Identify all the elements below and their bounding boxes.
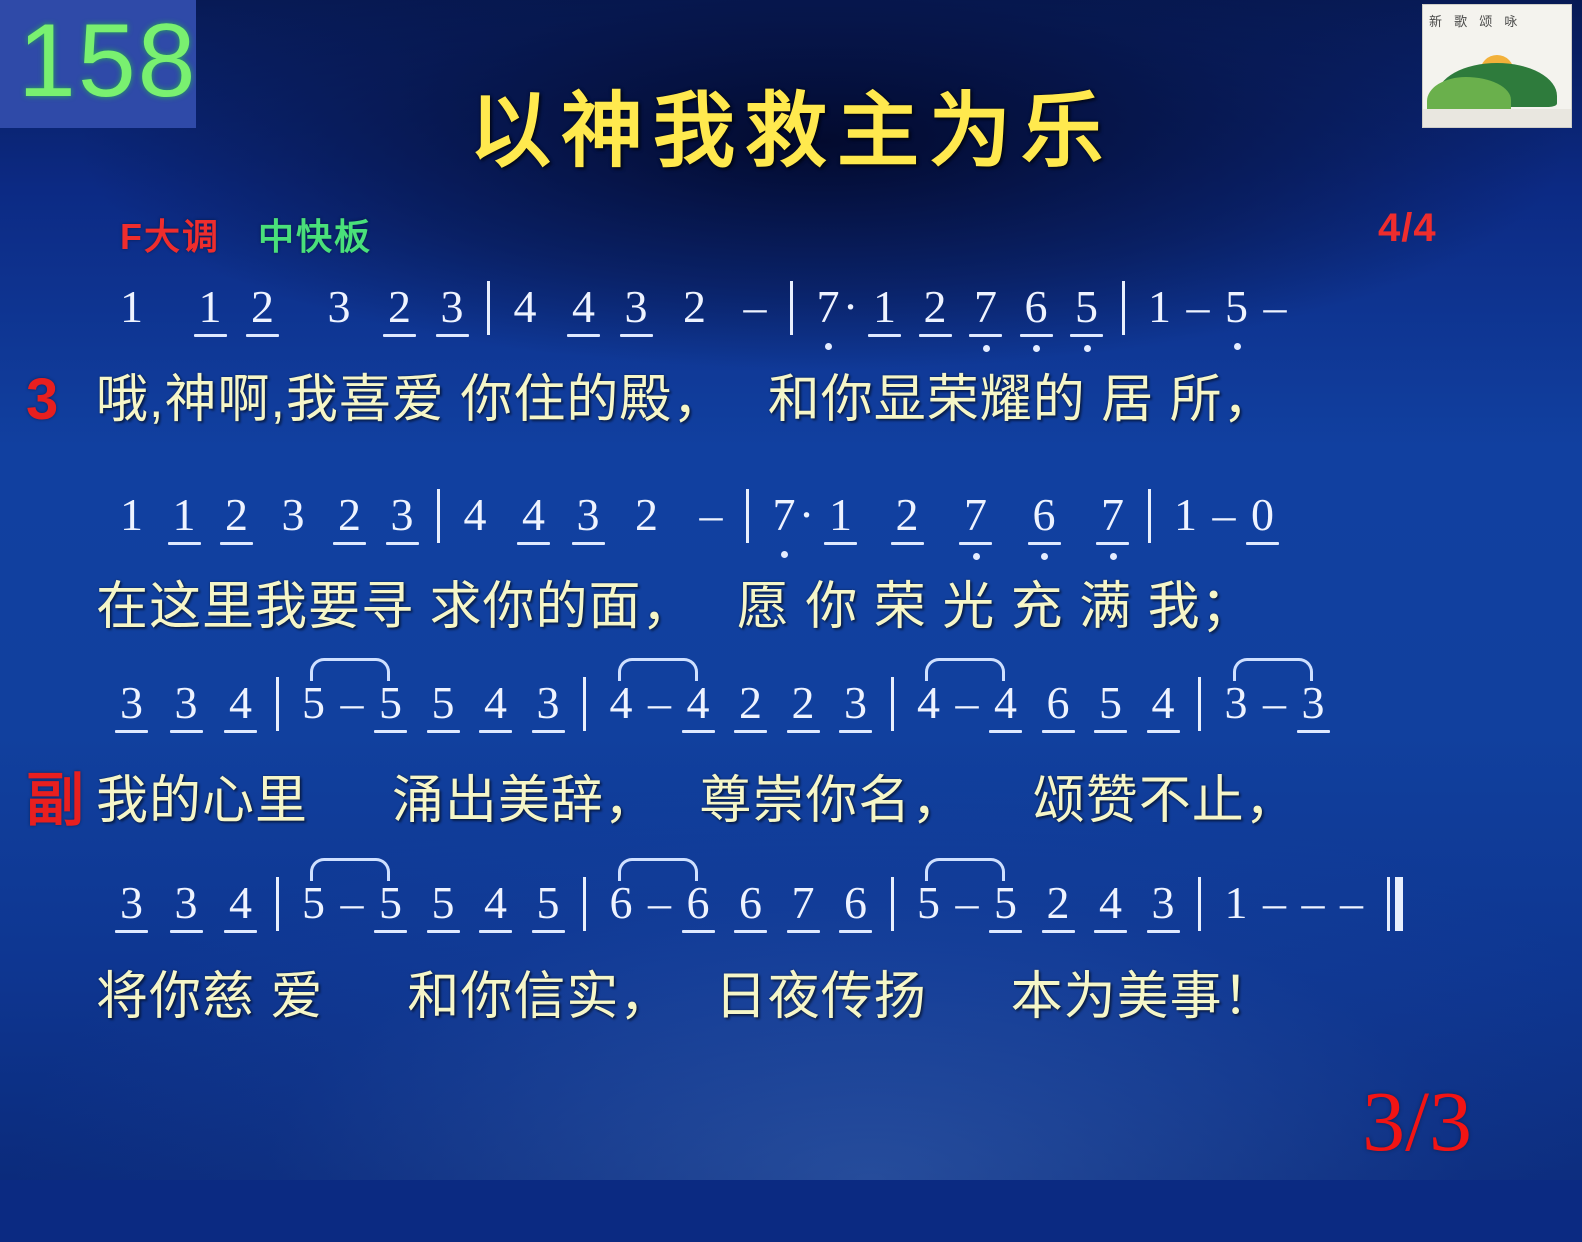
- barline: [1198, 677, 1201, 731]
- barline: [891, 877, 894, 931]
- lyric-text: 哦,神啊,我喜爱 你住的殿， 和你显荣耀的 居 所，: [96, 365, 1276, 435]
- chorus-mark: 副: [26, 766, 85, 836]
- tempo-label: 中快板: [258, 208, 372, 260]
- barline: [1148, 489, 1151, 543]
- time-signature-label: 4/4: [1378, 206, 1437, 251]
- barline: [276, 877, 279, 931]
- notation-line-3: 3 3 4 5 – 5 5 4 3 4 – 4 2 2 3 4 – 4 6 5 …: [0, 672, 1582, 734]
- barline: [1198, 877, 1201, 931]
- barline: [790, 281, 793, 335]
- barline: [746, 489, 749, 543]
- barline: [487, 281, 490, 335]
- notation-line-1: 1 1 2 3 2 3 4 4 3 2 – 7· 1 2 7 6 5 1 – 5…: [0, 276, 1582, 338]
- lyric-line-4: 将你慈 爱 和你信实， 日夜传扬 本为美事！: [0, 962, 1582, 1242]
- verse-number-mark: 3: [26, 365, 59, 435]
- notation-line-4: 3 3 4 5 – 5 5 4 5 6 – 6 6 7 6 5 – 5 2 4 …: [0, 872, 1582, 934]
- barline: [583, 877, 586, 931]
- hymn-slide: 158 新 歌 颂 咏 以神我救主为乐 F大调 中快板 4/4 1 1 2 3 …: [0, 0, 1582, 1180]
- barline: [583, 677, 586, 731]
- lyric-text: 我的心里 涌出美辞， 尊崇你名， 颂赞不止，: [96, 766, 1298, 836]
- final-barline: [1387, 877, 1403, 931]
- barline: [891, 677, 894, 731]
- lyric-text: 将你慈 爱 和你信实， 日夜传扬 本为美事！: [96, 962, 1276, 1032]
- notation-line-2: 1 1 2 3 2 3 4 4 3 2 – 7· 1 2 7 6 7 1 – 0: [0, 484, 1582, 546]
- barline: [437, 489, 440, 543]
- barline: [276, 677, 279, 731]
- key-signature-label: F大调: [120, 208, 220, 260]
- barline: [1122, 281, 1125, 335]
- logo-caption: 新 歌 颂 咏: [1429, 11, 1567, 30]
- hymn-title: 以神我救主为乐: [0, 86, 1582, 178]
- page-indicator: 3/3: [1362, 1076, 1472, 1166]
- lyric-text: 在这里我要寻 求你的面， 愿 你 荣 光 充 满 我；: [96, 572, 1254, 642]
